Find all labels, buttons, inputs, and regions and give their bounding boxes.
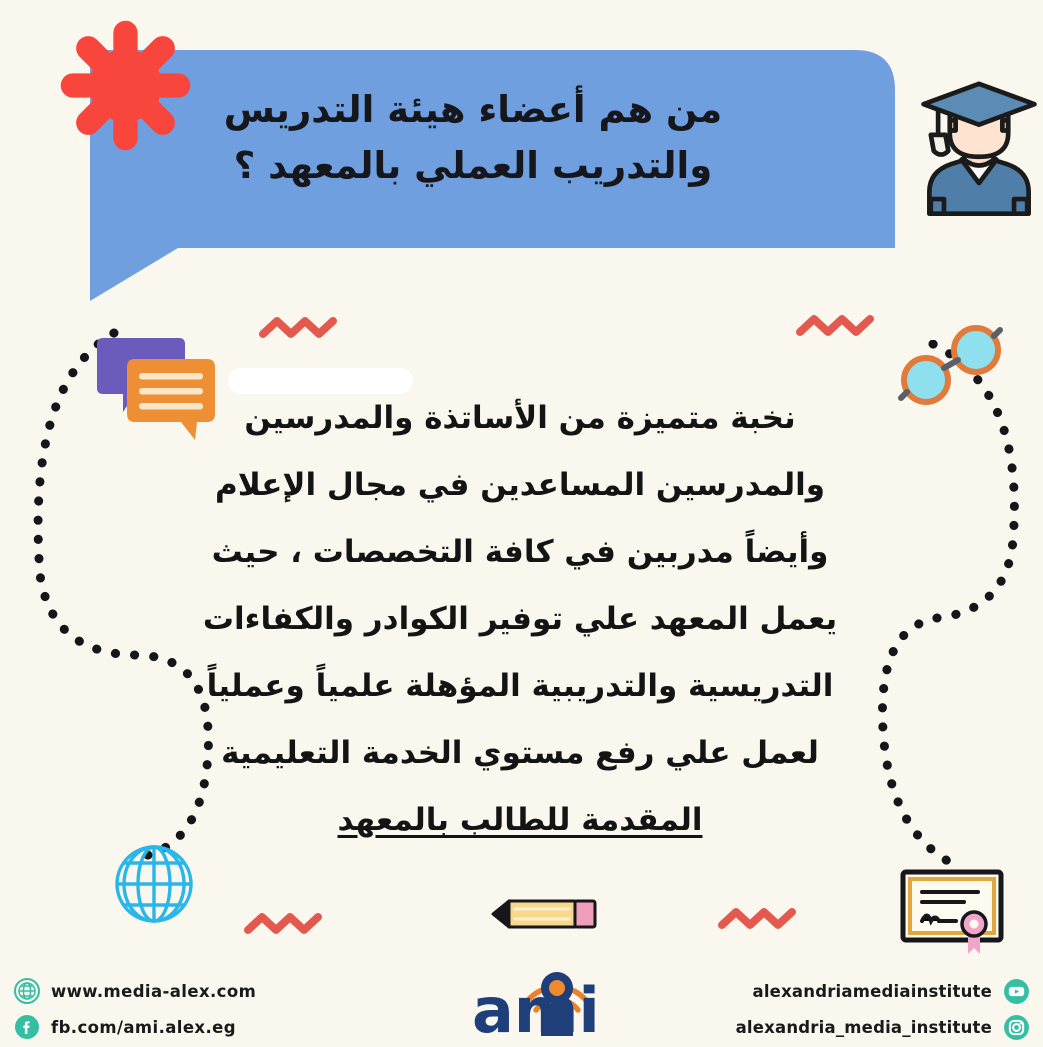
graduate-student-icon bbox=[906, 74, 1043, 222]
footer-link-label: www.media-alex.com bbox=[51, 982, 256, 1001]
ami-logo: ami bbox=[462, 944, 620, 1040]
body-line: وأيضاً مدربين في كافة التخصصات ، حيث bbox=[140, 519, 900, 586]
eyeglasses-icon bbox=[898, 322, 1006, 412]
body-line: نخبة متميزة من الأساتذة والمدرسين bbox=[140, 385, 900, 452]
title-line-2: والتدريب العملي بالمعهد ؟ bbox=[234, 144, 713, 187]
footer-left-links: www.media-alex.com fb.com/ami.alex.eg bbox=[14, 975, 414, 1047]
zigzag-squiggle-icon bbox=[795, 310, 879, 342]
zigzag-squiggle-icon bbox=[243, 908, 327, 940]
pencil-icon bbox=[489, 894, 599, 934]
footer-link-facebook[interactable]: fb.com/ami.alex.eg bbox=[14, 1011, 414, 1043]
footer-link-youtube[interactable]: alexandriamediainstitute bbox=[700, 975, 1030, 1007]
footer-link-label: alexandriamediainstitute bbox=[752, 982, 992, 1001]
body-line: لعمل علي رفع مستوي الخدمة التعليمية bbox=[140, 720, 900, 787]
certificate-icon bbox=[898, 866, 1006, 958]
footer-link-instagram[interactable]: alexandria_media_institute bbox=[700, 1011, 1030, 1043]
body-line: والمدرسين المساعدين في مجال الإعلام bbox=[140, 452, 900, 519]
footer-link-website[interactable]: www.media-alex.com bbox=[14, 975, 414, 1007]
page-title: من هم أعضاء هيئة التدريس والتدريب العملي… bbox=[90, 82, 870, 193]
body-line: التدريسية والتدريبية المؤهلة علمياً وعمل… bbox=[140, 653, 900, 720]
globe-icon bbox=[105, 843, 203, 925]
zigzag-squiggle-icon bbox=[717, 903, 801, 935]
body-line: المقدمة للطالب بالمعهد bbox=[140, 787, 900, 854]
asterisk-icon bbox=[58, 18, 193, 153]
footer-link-label: alexandria_media_institute bbox=[736, 1018, 992, 1037]
body-line: يعمل المعهد علي توفير الكوادر والكفاءات bbox=[140, 586, 900, 653]
zigzag-squiggle-icon bbox=[258, 312, 342, 344]
title-line-1: من هم أعضاء هيئة التدريس bbox=[224, 88, 722, 131]
footer-link-label: fb.com/ami.alex.eg bbox=[51, 1018, 236, 1037]
infographic-canvas: من هم أعضاء هيئة التدريس والتدريب العملي… bbox=[0, 0, 1043, 1043]
youtube-icon bbox=[1003, 978, 1030, 1005]
body-paragraph: نخبة متميزة من الأساتذة والمدرسين والمدر… bbox=[140, 385, 900, 854]
facebook-icon bbox=[14, 1014, 40, 1040]
globe-icon bbox=[14, 978, 40, 1004]
ami-logo-text: ami bbox=[472, 974, 600, 1040]
footer-right-links: alexandriamediainstitute alexandria_medi… bbox=[700, 975, 1030, 1047]
header-banner: من هم أعضاء هيئة التدريس والتدريب العملي… bbox=[90, 48, 895, 303]
instagram-icon bbox=[1003, 1014, 1030, 1041]
